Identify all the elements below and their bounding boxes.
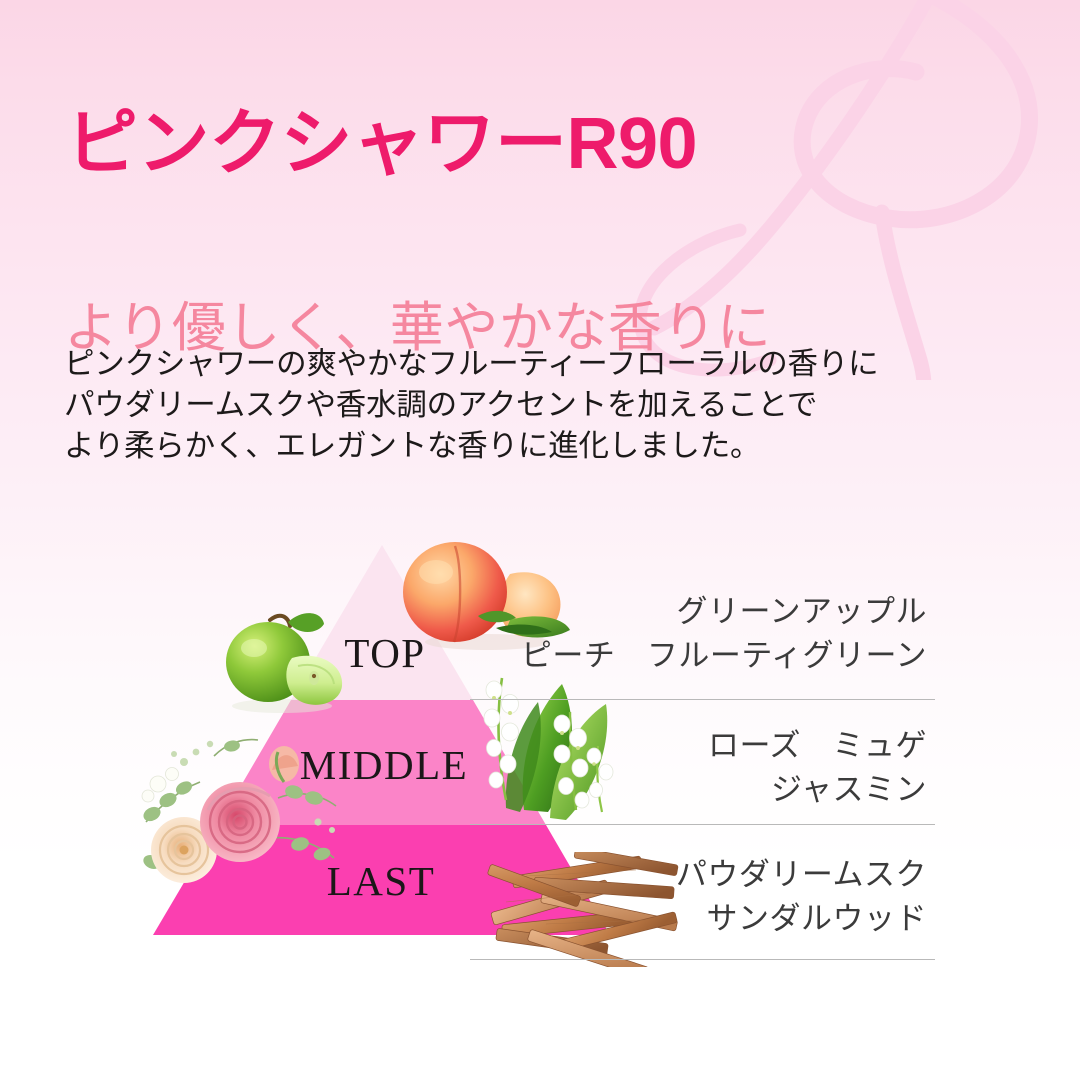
body-line-2: パウダリームスクや香水調のアクセントを加えることで — [64, 385, 878, 426]
note-middle-line-2: ジャスミン — [470, 768, 931, 812]
note-row-middle: ローズ ミュゲ ジャスミン — [470, 700, 935, 825]
body-line-3: より柔らかく、エレガントな香りに進化しました。 — [64, 426, 878, 467]
note-top-line-1: グリーンアップル — [470, 590, 931, 634]
note-last-line-2: サンダルウッド — [470, 897, 931, 941]
page-title: ピンクシャワーR90 — [66, 106, 697, 182]
pyramid-label-last: LAST — [256, 857, 506, 905]
note-top-line-2: ピーチ フルーティグリーン — [470, 634, 931, 678]
note-row-top: グリーンアップル ピーチ フルーティグリーン — [470, 560, 935, 700]
poster-canvas: ピンクシャワーR90 より優しく、華やかな香りに ピンクシャワーの爽やかなフルー… — [0, 0, 1080, 1080]
body-line-1: ピンクシャワーの爽やかなフルーティーフローラルの香りに — [64, 344, 878, 385]
pyramid-label-top: TOP — [300, 629, 470, 677]
note-middle-line-1: ローズ ミュゲ — [470, 724, 931, 768]
note-row-last: パウダリームスク サンダルウッド — [470, 825, 935, 960]
body-copy: ピンクシャワーの爽やかなフルーティーフローラルの香りに パウダリームスクや香水調… — [64, 344, 878, 467]
fragrance-notes-list: グリーンアップル ピーチ フルーティグリーン ローズ ミュゲ ジャスミン パウダ… — [470, 560, 935, 960]
note-last-line-1: パウダリームスク — [470, 853, 931, 897]
